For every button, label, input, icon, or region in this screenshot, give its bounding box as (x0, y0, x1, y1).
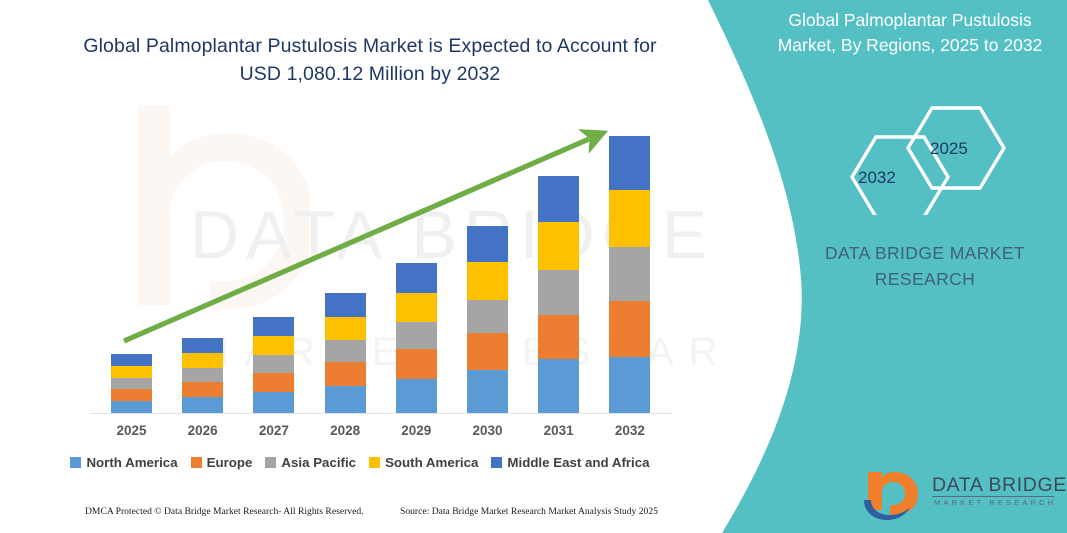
bar-segment-europe (538, 315, 579, 359)
data-bridge-logo: DATA BRIDGE MARKET RESEARCH (860, 470, 1060, 525)
bar-segment-north-america (325, 386, 366, 413)
logo-tagline: MARKET RESEARCH (934, 498, 1056, 507)
bar-segment-north-america (111, 401, 152, 413)
bar-segment-middle-east-and-africa (111, 354, 152, 366)
bar-segment-south-america (111, 366, 152, 378)
bar-segment-asia-pacific (396, 322, 437, 349)
bar-segment-south-america (182, 353, 223, 368)
bar-segment-middle-east-and-africa (325, 293, 366, 317)
stacked-bar-chart: 20252026202720282029203020312032 North A… (0, 0, 720, 470)
legend-item-asia-pacific[interactable]: Asia Pacific (265, 455, 356, 470)
legend-label: North America (86, 455, 177, 470)
footer: DMCA Protected © Data Bridge Market Rese… (0, 506, 720, 528)
legend-item-middle-east-and-africa[interactable]: Middle East and Africa (491, 455, 649, 470)
bar-2030 (467, 226, 508, 413)
x-axis-label-2029: 2029 (381, 423, 451, 438)
x-axis-label-2026: 2026 (168, 423, 238, 438)
bar-segment-europe (182, 382, 223, 397)
bar-segment-south-america (538, 222, 579, 270)
infographic-root: DATA BRIDGE MARKET RESEARCH Global Palmo… (0, 0, 1067, 533)
bar-segment-south-america (396, 293, 437, 322)
x-axis-label-2030: 2030 (453, 423, 523, 438)
chart-legend: North AmericaEuropeAsia PacificSouth Ame… (0, 455, 720, 470)
bar-segment-europe (609, 301, 650, 357)
hexagon-label-2032: 2032 (858, 168, 896, 188)
right-panel-title: Global Palmoplantar Pustulosis Market, B… (760, 8, 1060, 58)
bar-segment-north-america (467, 370, 508, 413)
bar-segment-asia-pacific (467, 300, 508, 333)
logo-rule (932, 496, 1054, 497)
logo-wordmark: DATA BRIDGE (932, 474, 1067, 497)
bar-segment-middle-east-and-africa (182, 338, 223, 353)
bar-2025 (111, 354, 152, 413)
bar-segment-middle-east-and-africa (396, 263, 437, 293)
x-axis-label-2031: 2031 (524, 423, 594, 438)
x-axis-line (90, 413, 672, 414)
legend-item-north-america[interactable]: North America (70, 455, 177, 470)
footer-source: Source: Data Bridge Market Research Mark… (400, 506, 658, 517)
hexagon-group: 2032 2025 (820, 95, 1040, 215)
bar-segment-asia-pacific (609, 247, 650, 301)
bar-2029 (396, 263, 437, 413)
bar-segment-europe (325, 362, 366, 386)
legend-swatch-icon (70, 457, 81, 468)
x-axis-label-2025: 2025 (97, 423, 167, 438)
data-bridge-b-logo-icon (860, 470, 926, 522)
bar-2027 (253, 317, 294, 413)
bar-segment-middle-east-and-africa (609, 136, 650, 190)
bar-segment-europe (396, 349, 437, 379)
right-panel-brand-line2: RESEARCH (875, 269, 975, 289)
bar-segment-north-america (609, 357, 650, 413)
x-axis-label-2027: 2027 (239, 423, 309, 438)
bar-segment-europe (253, 373, 294, 392)
bar-segment-north-america (253, 392, 294, 413)
bar-2026 (182, 338, 223, 413)
legend-label: Asia Pacific (281, 455, 356, 470)
bar-segment-middle-east-and-africa (253, 317, 294, 336)
legend-swatch-icon (369, 457, 380, 468)
x-axis-label-2028: 2028 (310, 423, 380, 438)
x-axis-label-2032: 2032 (595, 423, 665, 438)
bar-segment-south-america (253, 336, 294, 355)
bar-segment-middle-east-and-africa (467, 226, 508, 262)
footer-copyright: DMCA Protected © Data Bridge Market Rese… (85, 506, 364, 517)
bar-2028 (325, 293, 366, 413)
bar-2031 (538, 176, 579, 413)
bar-segment-south-america (609, 190, 650, 247)
legend-swatch-icon (265, 457, 276, 468)
chart-plot-area (0, 0, 720, 413)
bar-segment-asia-pacific (111, 378, 152, 389)
bar-segment-north-america (396, 379, 437, 413)
bar-segment-asia-pacific (538, 270, 579, 315)
x-axis-labels: 20252026202720282029203020312032 (0, 420, 720, 444)
bar-segment-north-america (538, 359, 579, 413)
bar-segment-asia-pacific (253, 355, 294, 373)
hexagon-label-2025: 2025 (930, 139, 968, 159)
legend-swatch-icon (191, 457, 202, 468)
right-panel-brand-line1: DATA BRIDGE MARKET (825, 243, 1025, 263)
bar-segment-asia-pacific (325, 340, 366, 362)
bar-segment-south-america (467, 262, 508, 300)
bar-segment-europe (111, 389, 152, 401)
bar-segment-south-america (325, 317, 366, 340)
bar-segment-europe (467, 333, 508, 370)
bar-segment-north-america (182, 397, 223, 413)
bar-segment-middle-east-and-africa (538, 176, 579, 222)
bar-segment-asia-pacific (182, 368, 223, 382)
legend-item-south-america[interactable]: South America (369, 455, 478, 470)
bar-2032 (609, 136, 650, 413)
legend-swatch-icon (491, 457, 502, 468)
legend-label: Europe (207, 455, 253, 470)
right-panel-brand: DATA BRIDGE MARKET RESEARCH (780, 240, 1067, 293)
legend-label: Middle East and Africa (507, 455, 649, 470)
legend-item-europe[interactable]: Europe (191, 455, 253, 470)
legend-label: South America (385, 455, 478, 470)
